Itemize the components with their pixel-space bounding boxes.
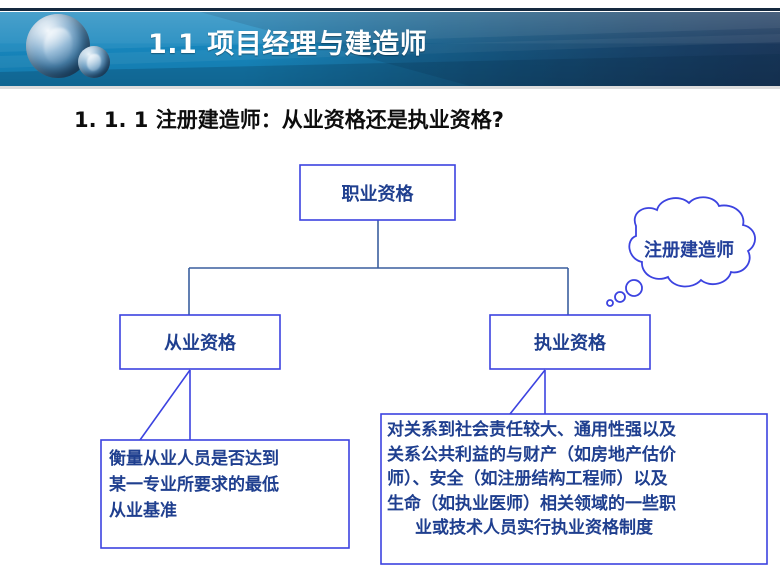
callout-left-line-2: 某一专业所要求的最低 <box>109 472 341 498</box>
thought-bubble-label: 注册建造师 <box>614 236 764 262</box>
node-label-right: 执业资格 <box>490 315 650 369</box>
node-left-text: 从业资格 <box>164 329 236 355</box>
callout-left-line-1: 衡量从业人员是否达到 <box>109 446 341 472</box>
callout-right-line-5: 业或技术人员实行执业资格制度 <box>387 516 761 541</box>
node-root-text: 职业资格 <box>342 180 414 206</box>
tree-connectors <box>189 220 568 315</box>
presentation-slide: 1.1 项目经理与建造师 1. 1. 1 注册建造师：从业资格还是执业资格? <box>0 0 780 577</box>
callout-left-line-3: 从业基准 <box>109 498 341 524</box>
callout-text-right: 对关系到社会责任较大、通用性强以及 关系公共利益的与财产（如房地产估价 师）、安… <box>381 414 767 564</box>
node-label-left: 从业资格 <box>120 315 280 369</box>
callout-right-line-4: 生命（如执业医师）相关领域的一些职 <box>387 492 761 517</box>
node-label-root: 职业资格 <box>300 165 455 220</box>
callout-right-line-1: 对关系到社会责任较大、通用性强以及 <box>387 418 761 443</box>
callout-right-line-3: 师）、安全（如注册结构工程师）以及 <box>387 467 761 492</box>
leader-line-right <box>510 370 545 414</box>
leader-line-left <box>140 370 190 440</box>
callout-right-line-2: 关系公共利益的与财产（如房地产估价 <box>387 443 761 468</box>
callout-text-left: 衡量从业人员是否达到 某一专业所要求的最低 从业基准 <box>101 440 349 548</box>
node-right-text: 执业资格 <box>534 329 606 355</box>
